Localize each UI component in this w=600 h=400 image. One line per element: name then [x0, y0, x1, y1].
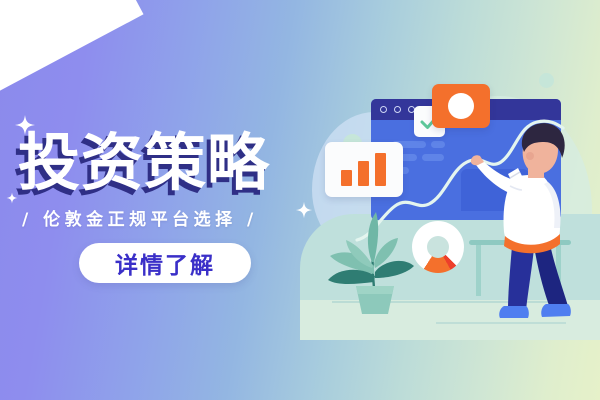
potted-plant-icon	[322, 204, 430, 320]
sparkle-icon	[6, 192, 18, 204]
promo-banner: 投资策略 / 伦敦金正规平台选择 / 详情了解	[0, 0, 600, 400]
window-dot-icon	[380, 106, 387, 113]
donut-hole	[427, 236, 449, 258]
bar-chart-bar	[341, 170, 352, 186]
corner-cut-decoration	[0, 0, 144, 127]
page-title: 投资策略	[18, 126, 270, 200]
subtitle: / 伦敦金正规平台选择 /	[22, 205, 258, 230]
window-dot-icon	[394, 106, 401, 113]
bar-chart-card	[325, 142, 403, 197]
bar-chart-bar	[358, 161, 369, 186]
details-cta-label: 详情了解	[115, 246, 215, 280]
mint-dot-icon	[539, 73, 554, 88]
sparkle-icon	[295, 201, 313, 219]
person-illustration	[470, 116, 590, 326]
bar-chart-bar	[375, 153, 386, 186]
details-cta-button[interactable]: 详情了解	[79, 243, 251, 283]
